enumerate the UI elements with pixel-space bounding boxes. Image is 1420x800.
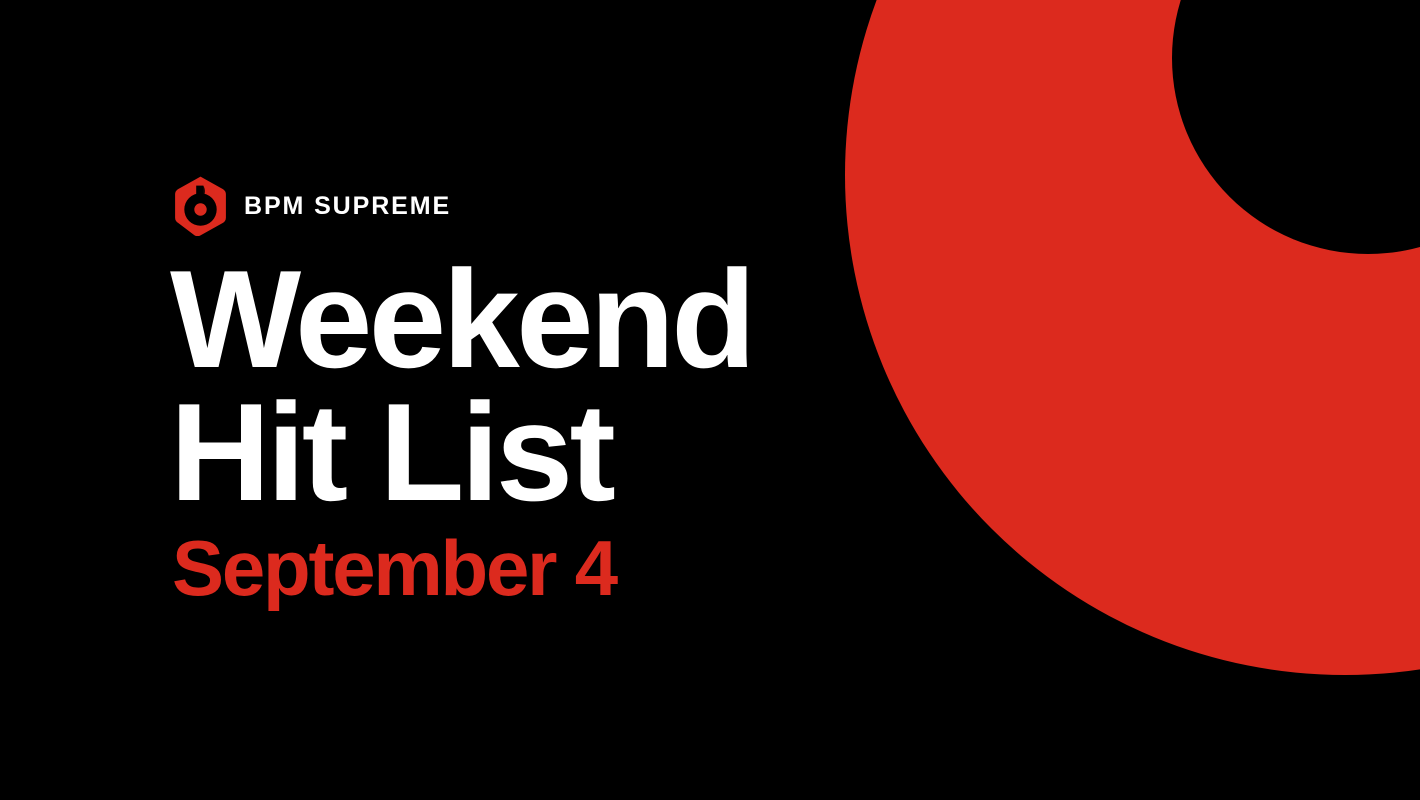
brand-lockup[interactable]: BPM SUPREME — [172, 176, 451, 236]
date-subtitle: September 4 — [172, 525, 616, 611]
poster-canvas: BPM SUPREME Weekend Hit List September 4 — [0, 0, 1420, 800]
page-title-line-1: Weekend — [170, 253, 870, 386]
page-title: Weekend Hit List — [170, 253, 870, 519]
bpm-supreme-logo-icon — [172, 176, 229, 236]
brand-wordmark: BPM SUPREME — [244, 194, 451, 219]
page-title-line-2: Hit List — [170, 386, 870, 519]
